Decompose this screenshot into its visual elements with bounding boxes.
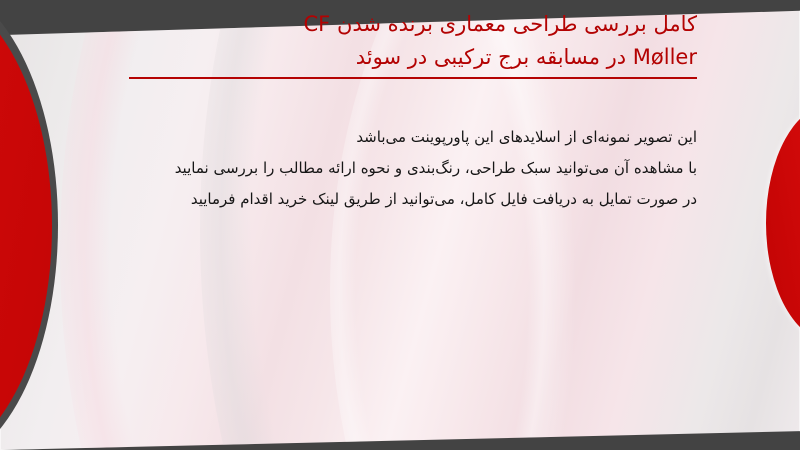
slide-body-line-1: این تصویر نمونه‌ای از اسلایدهای این پاور… bbox=[97, 122, 697, 153]
slide-title-line-1: کامل بررسی طراحی معماری برنده شدن CF bbox=[127, 8, 697, 41]
slide-body-line-2: با مشاهده آن می‌توانید سبک طراحی، رنگ‌بن… bbox=[97, 153, 697, 184]
slide-text-layer: کامل بررسی طراحی معماری برنده شدن CF Møl… bbox=[0, 0, 800, 450]
slide-title: کامل بررسی طراحی معماری برنده شدن CF Møl… bbox=[127, 8, 697, 74]
slide-body-text: این تصویر نمونه‌ای از اسلایدهای این پاور… bbox=[97, 122, 697, 215]
slide-title-line-2: Møller در مسابقه برج ترکیبی در سوئد bbox=[127, 41, 697, 74]
title-underline bbox=[129, 77, 697, 79]
slide-body-line-3: در صورت تمایل به دریافت فایل کامل، می‌تو… bbox=[97, 184, 697, 215]
presentation-slide: کامل بررسی طراحی معماری برنده شدن CF Møl… bbox=[0, 0, 800, 450]
